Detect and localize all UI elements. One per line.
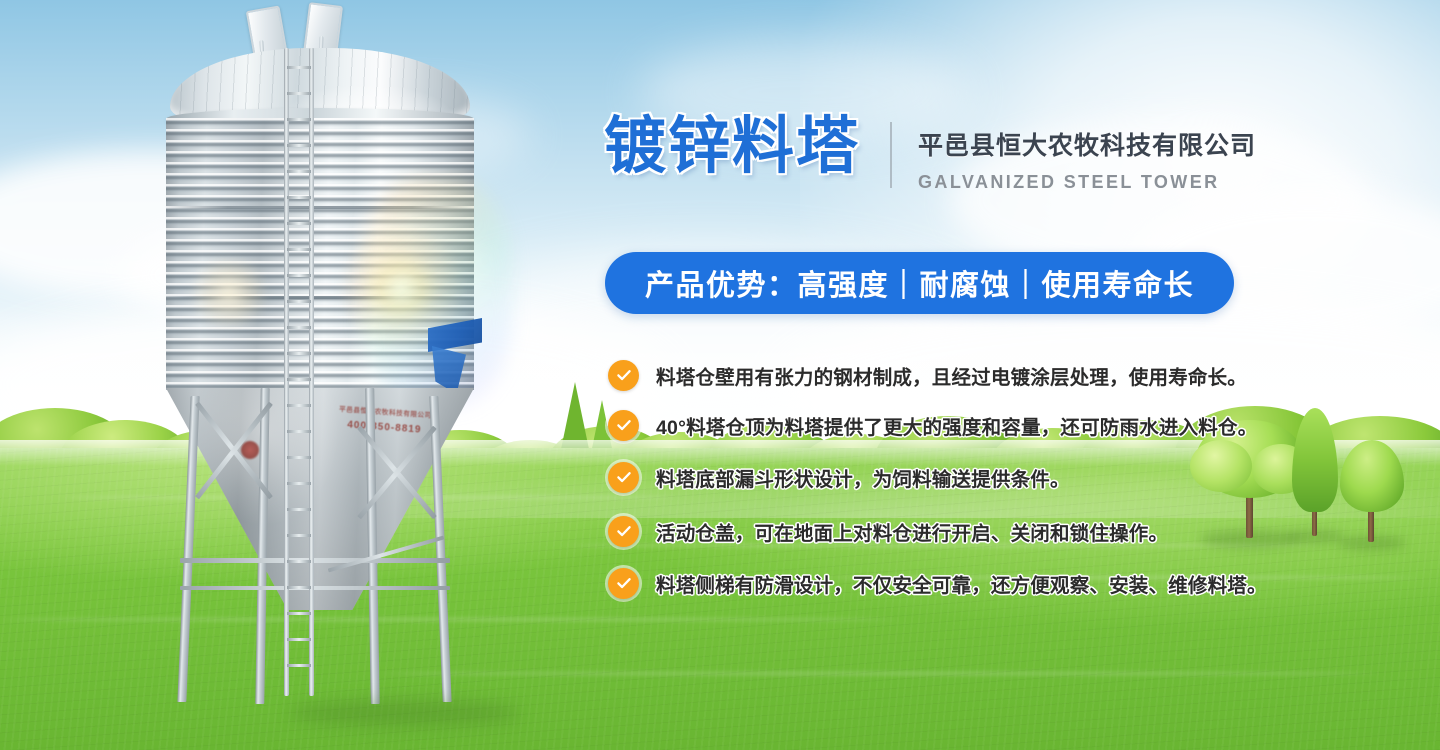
check-circle-icon [608, 462, 639, 493]
title-divider [890, 122, 892, 188]
company-block: 平邑县恒大农牧科技有限公司 GALVANIZED STEEL TOWER [918, 116, 1256, 193]
check-circle-icon [608, 516, 639, 547]
advantage-pill-label: 产品优势：高强度｜耐腐蚀｜使用寿命长 [645, 262, 1194, 304]
company-name: 平邑县恒大农牧科技有限公司 [918, 126, 1256, 162]
feature-text: 料塔底部漏斗形状设计，为饲料输送提供条件。 [656, 463, 1070, 492]
feature-text: 活动仓盖，可在地面上对料仓进行开启、关闭和锁住操作。 [656, 517, 1168, 546]
list-item: 料塔侧梯有防滑设计，不仅安全可靠，还方便观察、安装、维修料塔。 [608, 564, 1308, 602]
banner-content: 镀锌料塔 平邑县恒大农牧科技有限公司 GALVANIZED STEEL TOWE… [0, 0, 1440, 750]
feature-text: 40°料塔仓顶为料塔提供了更大的强度和容量，还可防雨水进入料仓。 [656, 411, 1257, 440]
check-circle-icon [608, 410, 639, 441]
list-item: 活动仓盖，可在地面上对料仓进行开启、关闭和锁住操作。 [608, 512, 1308, 550]
advantage-pill: 产品优势：高强度｜耐腐蚀｜使用寿命长 [605, 252, 1234, 314]
feature-list: 料塔仓壁用有张力的钢材制成，且经过电镀涂层处理，使用寿命长。 40°料塔仓顶为料… [608, 356, 1308, 614]
list-item: 料塔仓壁用有张力的钢材制成，且经过电镀涂层处理，使用寿命长。 [608, 356, 1308, 394]
feature-text: 料塔仓壁用有张力的钢材制成，且经过电镀涂层处理，使用寿命长。 [656, 361, 1247, 390]
check-circle-icon [608, 568, 639, 599]
list-item: 料塔底部漏斗形状设计，为饲料输送提供条件。 [608, 458, 1308, 496]
check-circle-icon [608, 360, 639, 391]
feature-text: 料塔侧梯有防滑设计，不仅安全可靠，还方便观察、安装、维修料塔。 [656, 569, 1267, 598]
page-title: 镀锌料塔 [604, 116, 860, 178]
hero-banner: 平邑县恒大农牧科技有限公司 400-850-8819 [0, 0, 1440, 750]
headline-row: 镀锌料塔 平邑县恒大农牧科技有限公司 GALVANIZED STEEL TOWE… [604, 116, 1256, 193]
list-item: 40°料塔仓顶为料塔提供了更大的强度和容量，还可防雨水进入料仓。 [608, 406, 1308, 444]
company-name-en: GALVANIZED STEEL TOWER [918, 172, 1256, 193]
